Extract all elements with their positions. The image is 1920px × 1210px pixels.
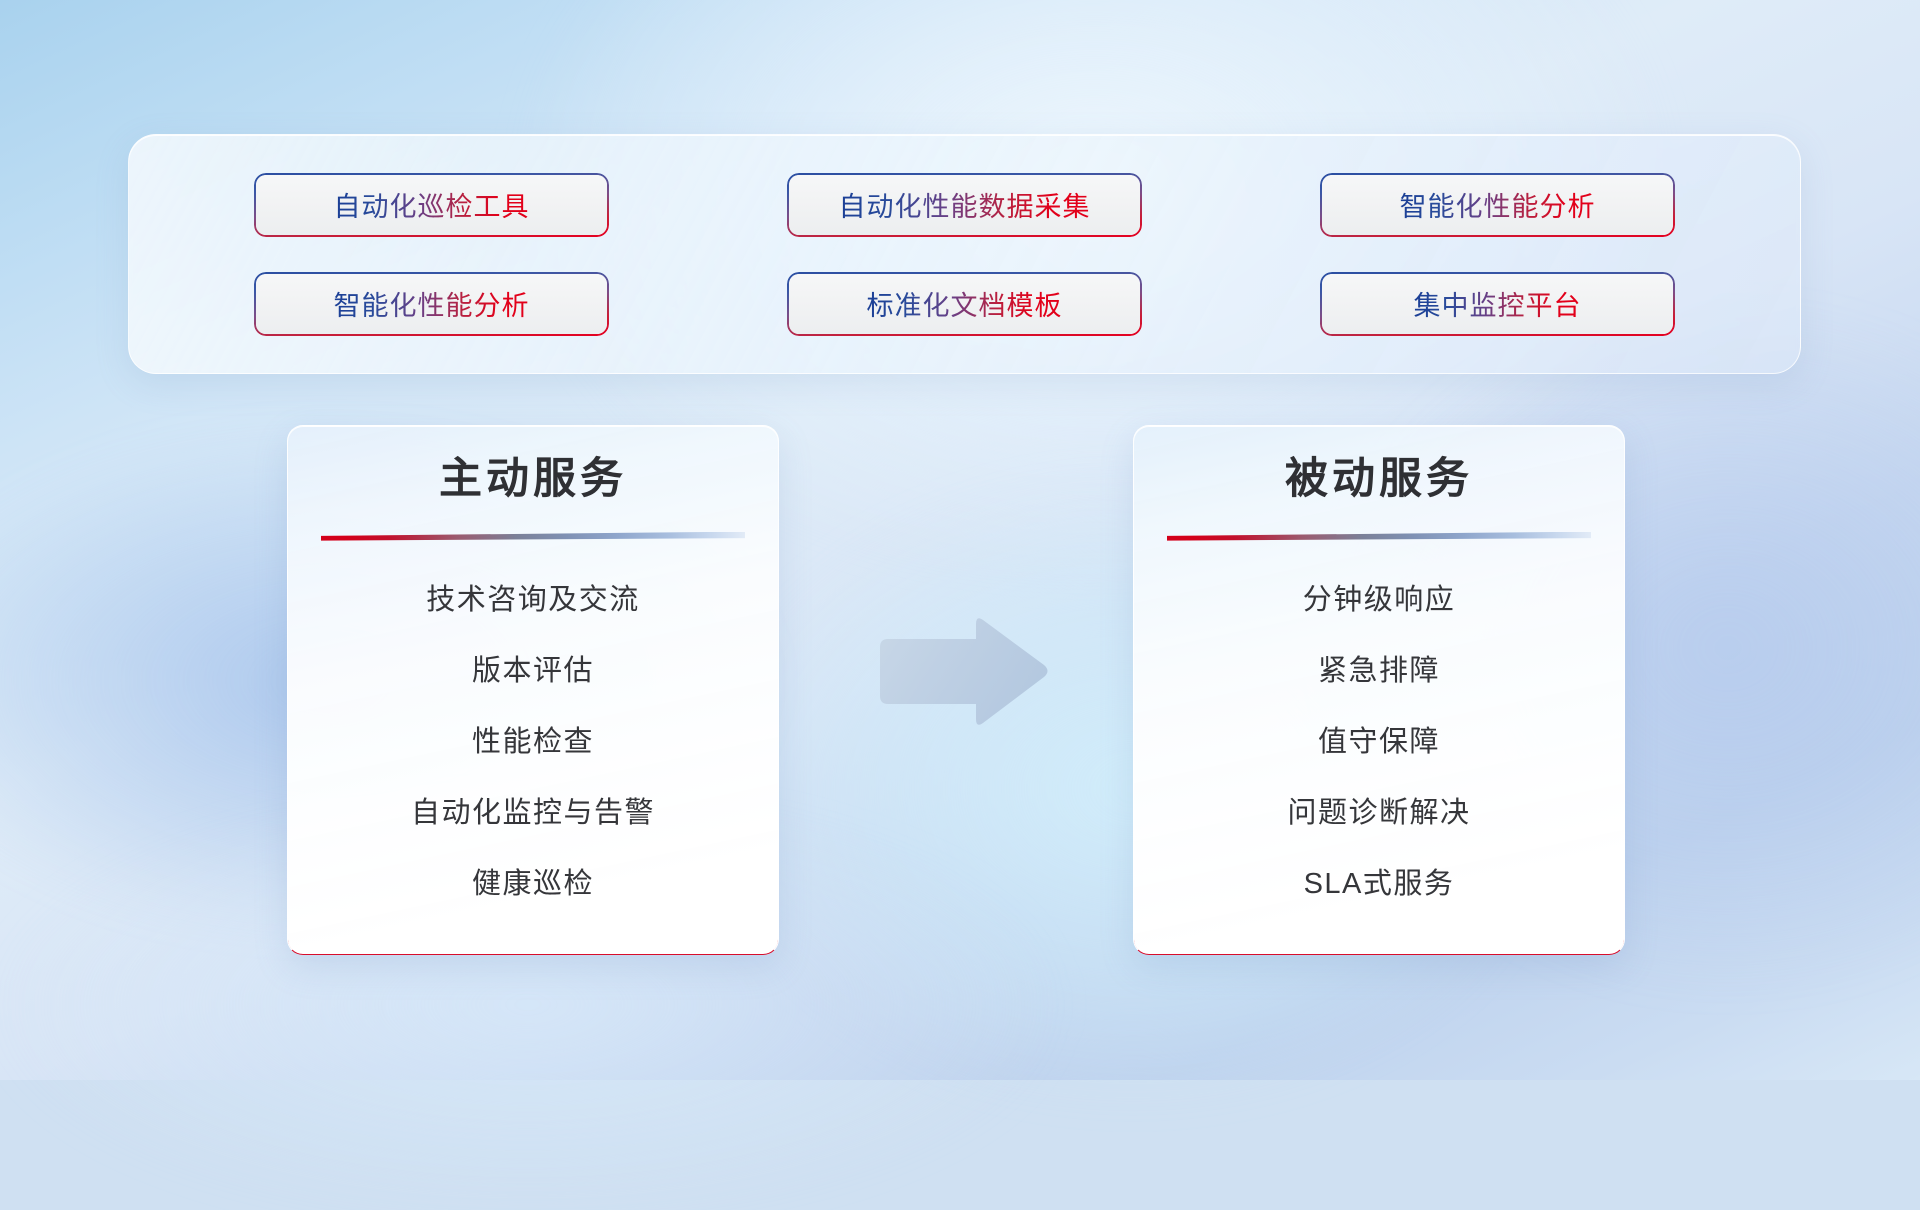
list-item: 健康巡检 xyxy=(288,849,778,920)
capability-pill-4[interactable]: 标准化文档模板 xyxy=(787,272,1142,336)
service-item-list: 分钟级响应 紧急排障 值守保障 问题诊断解决 SLA式服务 xyxy=(1134,565,1624,920)
card-content: 主动服务 技术咨询及交流 版本评估 性能检查 自动化监控与告警 健康巡检 xyxy=(288,426,778,954)
capability-pill-label: 智能化性能分析 xyxy=(334,284,530,323)
capability-pill-0[interactable]: 自动化巡检工具 xyxy=(254,173,609,237)
card-title: 主动服务 xyxy=(439,454,627,506)
card-title-divider xyxy=(321,532,745,541)
list-item: 紧急排障 xyxy=(1134,636,1624,707)
list-item: 性能检查 xyxy=(288,707,778,778)
capability-pill-label: 集中监控平台 xyxy=(1414,284,1582,323)
capability-pill-label: 标准化文档模板 xyxy=(867,284,1063,323)
list-item: 值守保障 xyxy=(1134,707,1624,778)
service-card-proactive: 主动服务 技术咨询及交流 版本评估 性能检查 自动化监控与告警 健康巡检 xyxy=(287,425,779,955)
card-title: 被动服务 xyxy=(1285,454,1473,506)
card-content: 被动服务 分钟级响应 紧急排障 值守保障 问题诊断解决 SLA式服务 xyxy=(1134,426,1624,954)
list-item: SLA式服务 xyxy=(1134,849,1624,920)
right-arrow-svg xyxy=(872,612,1052,732)
list-item: 版本评估 xyxy=(288,636,778,707)
list-item: 技术咨询及交流 xyxy=(288,565,778,636)
list-item: 问题诊断解决 xyxy=(1134,778,1624,849)
service-item-list: 技术咨询及交流 版本评估 性能检查 自动化监控与告警 健康巡检 xyxy=(288,565,778,920)
capability-pill-3[interactable]: 智能化性能分析 xyxy=(254,272,609,336)
capability-pills-panel: 自动化巡检工具 自动化性能数据采集 智能化性能分析 智能化性能分析 标准化文档模… xyxy=(128,134,1801,374)
capability-pill-1[interactable]: 自动化性能数据采集 xyxy=(787,173,1142,237)
capability-pill-label: 自动化性能数据采集 xyxy=(839,185,1091,224)
service-card-reactive: 被动服务 分钟级响应 紧急排障 值守保障 问题诊断解决 SLA式服务 xyxy=(1133,425,1625,955)
capability-pill-5[interactable]: 集中监控平台 xyxy=(1320,272,1675,336)
list-item: 自动化监控与告警 xyxy=(288,778,778,849)
list-item: 分钟级响应 xyxy=(1134,565,1624,636)
card-title-divider xyxy=(1167,532,1591,541)
capability-pill-label: 自动化巡检工具 xyxy=(334,185,530,224)
capability-pill-label: 智能化性能分析 xyxy=(1400,185,1596,224)
capability-pill-2[interactable]: 智能化性能分析 xyxy=(1320,173,1675,237)
right-arrow-icon xyxy=(872,612,1052,732)
